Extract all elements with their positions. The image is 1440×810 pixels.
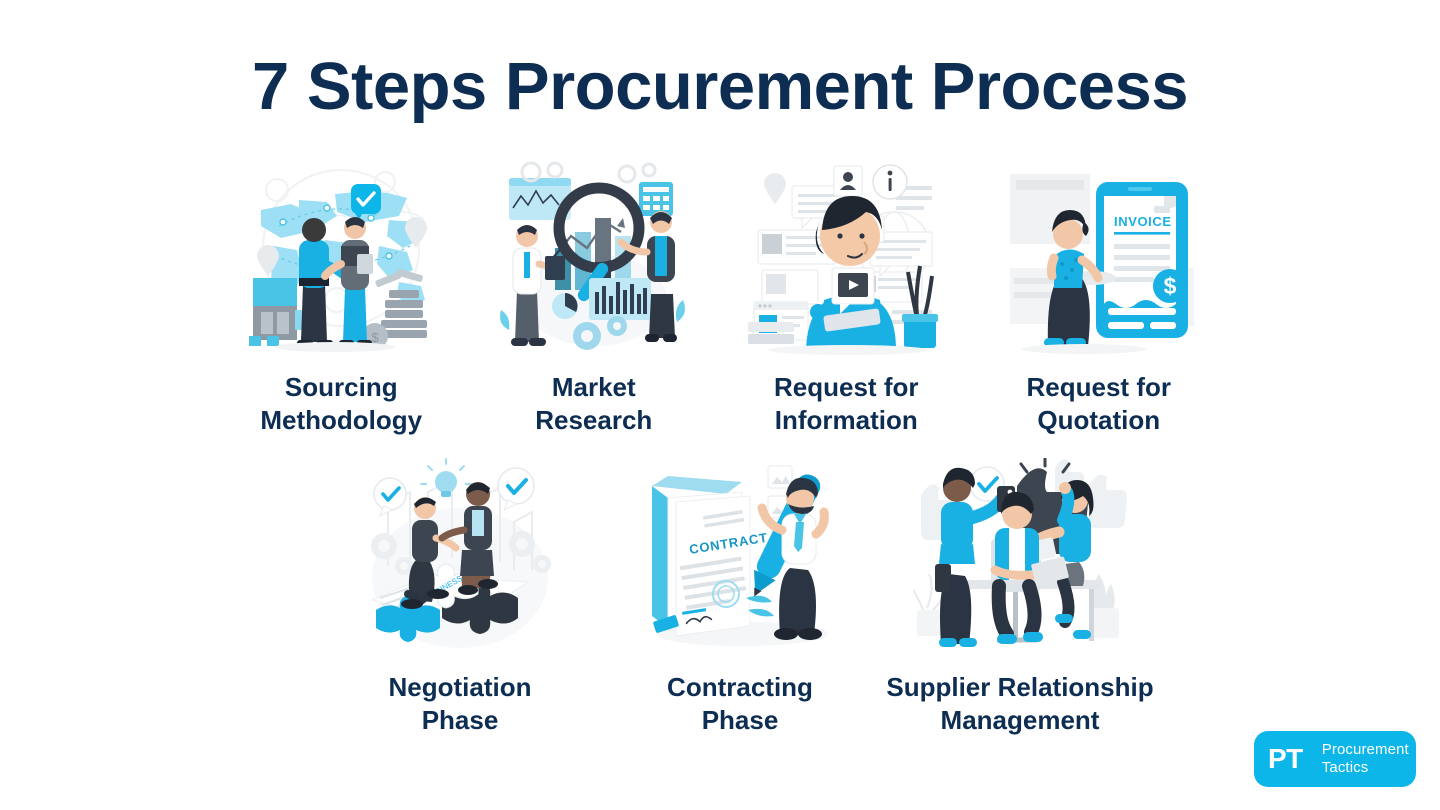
step-card-contracting-phase[interactable]: CONTRACT (600, 458, 880, 738)
logo-line-1: Procurement (1322, 741, 1409, 759)
man-information-cards-icon (720, 160, 973, 355)
step-label: Request for Quotation (1027, 371, 1171, 438)
logo-monogram: PT (1268, 745, 1303, 773)
invoice-phone-icon: INVOICE $ (973, 160, 1226, 355)
procurement-tactics-logo[interactable]: PT Procurement Tactics (1254, 731, 1416, 787)
steps-row-2: BUSINESS (320, 458, 1160, 738)
infographic-canvas: 7 Steps Procurement Process (0, 0, 1440, 810)
puzzle-handshake-icon: BUSINESS (320, 458, 600, 653)
svg-text:$: $ (371, 330, 379, 345)
handshake-world-map-icon: $ (215, 160, 468, 355)
step-card-request-for-information[interactable]: Request for Information (720, 160, 973, 438)
step-label: Market Research (535, 371, 652, 438)
dollar-symbol: $ (1164, 273, 1177, 299)
step-card-negotiation-phase[interactable]: BUSINESS (320, 458, 600, 738)
step-label: Sourcing Methodology (260, 371, 422, 438)
step-card-market-research[interactable]: Market Research (468, 160, 721, 438)
page-title: 7 Steps Procurement Process (0, 52, 1440, 122)
logo-wordmark: Procurement Tactics (1322, 741, 1409, 776)
step-label: Negotiation Phase (389, 671, 532, 738)
contract-signing-icon: CONTRACT (600, 458, 880, 653)
magnifying-glass-charts-icon (468, 160, 721, 355)
team-thumbs-up-icon (880, 458, 1160, 653)
step-card-request-for-quotation[interactable]: INVOICE $ (973, 160, 1226, 438)
step-label: Supplier Relationship Management (886, 671, 1153, 738)
step-card-sourcing-methodology[interactable]: $ (215, 160, 468, 438)
steps-row-1: $ (215, 160, 1225, 438)
invoice-heading: INVOICE (1114, 214, 1172, 229)
step-label: Request for Information (774, 371, 918, 438)
step-label: Contracting Phase (667, 671, 813, 738)
logo-line-2: Tactics (1322, 759, 1409, 777)
step-card-supplier-relationship-management[interactable]: Supplier Relationship Management (880, 458, 1160, 738)
